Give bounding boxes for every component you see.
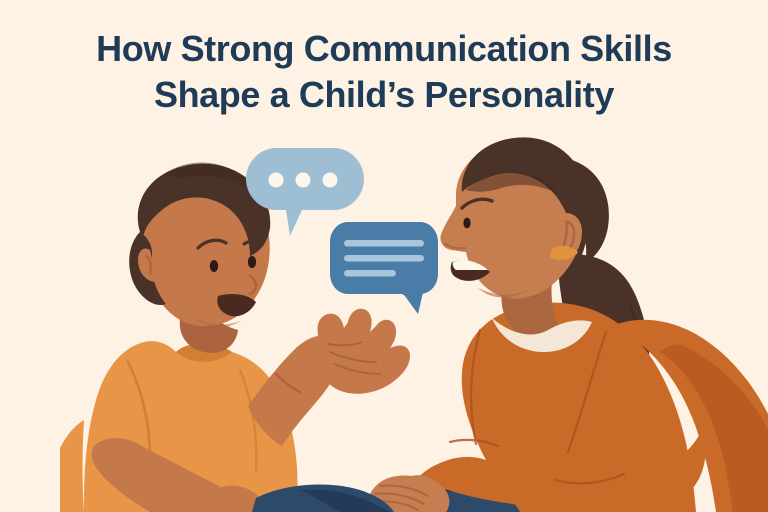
illustration-canvas: How Strong Communication Skills Shape a … <box>0 0 768 512</box>
boy-eye-right <box>248 256 256 268</box>
bubble-dark-line-3 <box>344 270 396 277</box>
bubble-dark-line-1 <box>344 240 424 247</box>
scene-illustration <box>0 0 768 512</box>
bubble-light-dot-3 <box>323 173 338 188</box>
artboard: How Strong Communication Skills Shape a … <box>0 0 768 512</box>
boy-eye-left <box>210 260 218 272</box>
bubble-dark-line-2 <box>344 255 424 262</box>
bubble-light-dot-1 <box>269 173 284 188</box>
bubble-light-dot-2 <box>296 173 311 188</box>
woman-eye <box>463 218 470 229</box>
